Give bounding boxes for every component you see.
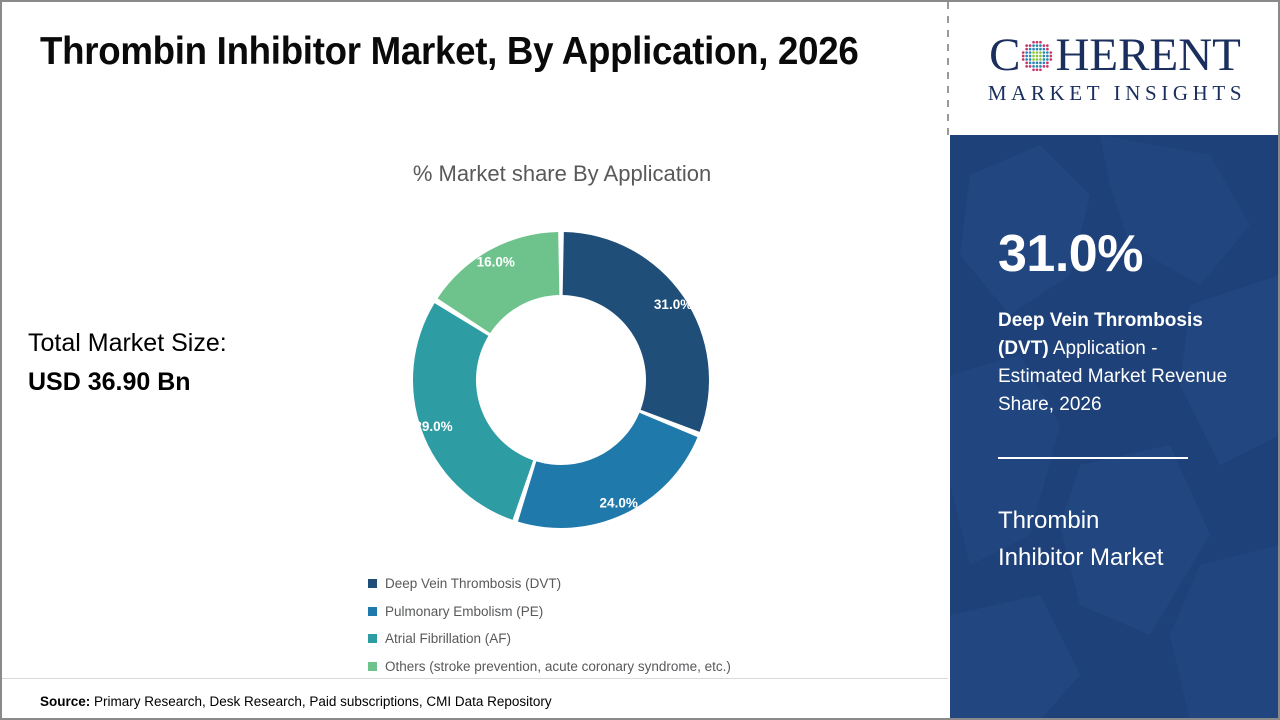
highlight-divider: [998, 457, 1188, 459]
total-market-size-label: Total Market Size:: [28, 324, 358, 363]
main-panel: Thrombin Inhibitor Market, By Applicatio…: [2, 2, 948, 718]
legend-label: Deep Vein Thrombosis (DVT): [385, 576, 561, 591]
globe-icon: [1020, 39, 1054, 73]
legend-swatch-icon: [368, 662, 377, 671]
total-market-size-value: USD 36.90 Bn: [28, 363, 358, 402]
highlight-market-name: Thrombin Inhibitor Market: [998, 502, 1238, 576]
legend-swatch-icon: [368, 607, 377, 616]
legend-label: Pulmonary Embolism (PE): [385, 604, 543, 619]
highlight-description: Deep Vein Thrombosis (DVT) Application -…: [998, 307, 1238, 419]
logo-subtitle: MARKET INSIGHTS: [984, 81, 1246, 106]
legend-item[interactable]: Deep Vein Thrombosis (DVT): [368, 570, 928, 598]
legend-item[interactable]: Pulmonary Embolism (PE): [368, 598, 928, 626]
chart-legend: Deep Vein Thrombosis (DVT)Pulmonary Embo…: [368, 570, 928, 680]
legend-item[interactable]: Others (stroke prevention, acute coronar…: [368, 653, 928, 681]
highlight-stat: 31.0%: [998, 228, 1143, 280]
legend-label: Others (stroke prevention, acute coronar…: [385, 659, 731, 674]
source-divider: [2, 678, 948, 679]
donut-slice-label: 31.0%: [654, 297, 692, 312]
donut-slice-label: 16.0%: [477, 254, 515, 269]
infographic-root: Thrombin Inhibitor Market, By Applicatio…: [0, 0, 1280, 720]
source-text: Primary Research, Desk Research, Paid su…: [90, 694, 551, 709]
donut-slice-label: 29.0%: [414, 419, 452, 434]
logo-wordmark: C HERENT: [989, 32, 1241, 80]
total-market-size-block: Total Market Size: USD 36.90 Bn: [28, 324, 358, 402]
highlight-market-name-line1: Thrombin: [998, 502, 1238, 539]
donut-chart: 31.0%24.0%29.0%16.0%: [407, 226, 715, 534]
donut-slice: [518, 413, 698, 528]
source-note: Source: Primary Research, Desk Research,…: [40, 694, 552, 709]
legend-swatch-icon: [368, 579, 377, 588]
logo-word-rest: HERENT: [1055, 32, 1240, 79]
chart-subtitle: % Market share By Application: [247, 161, 877, 187]
highlight-panel: 31.0% Deep Vein Thrombosis (DVT) Applica…: [950, 135, 1280, 720]
donut-slice-group: [413, 232, 709, 528]
legend-item[interactable]: Atrial Fibrillation (AF): [368, 625, 928, 653]
source-label: Source:: [40, 694, 90, 709]
donut-slice: [413, 303, 533, 520]
logo-block: C HERENT MARKET INSIGHTS: [950, 2, 1280, 135]
logo-letter-c: C: [989, 32, 1020, 79]
donut-chart-svg: 31.0%24.0%29.0%16.0%: [407, 226, 715, 534]
vertical-dashed-divider: [947, 2, 949, 137]
highlight-market-name-line2: Inhibitor Market: [998, 539, 1238, 576]
legend-swatch-icon: [368, 634, 377, 643]
donut-slice-label: 24.0%: [600, 496, 638, 511]
page-title: Thrombin Inhibitor Market, By Applicatio…: [40, 30, 867, 74]
highlight-content: 31.0% Deep Vein Thrombosis (DVT) Applica…: [998, 135, 1248, 720]
donut-slice: [563, 232, 709, 432]
legend-label: Atrial Fibrillation (AF): [385, 631, 511, 646]
